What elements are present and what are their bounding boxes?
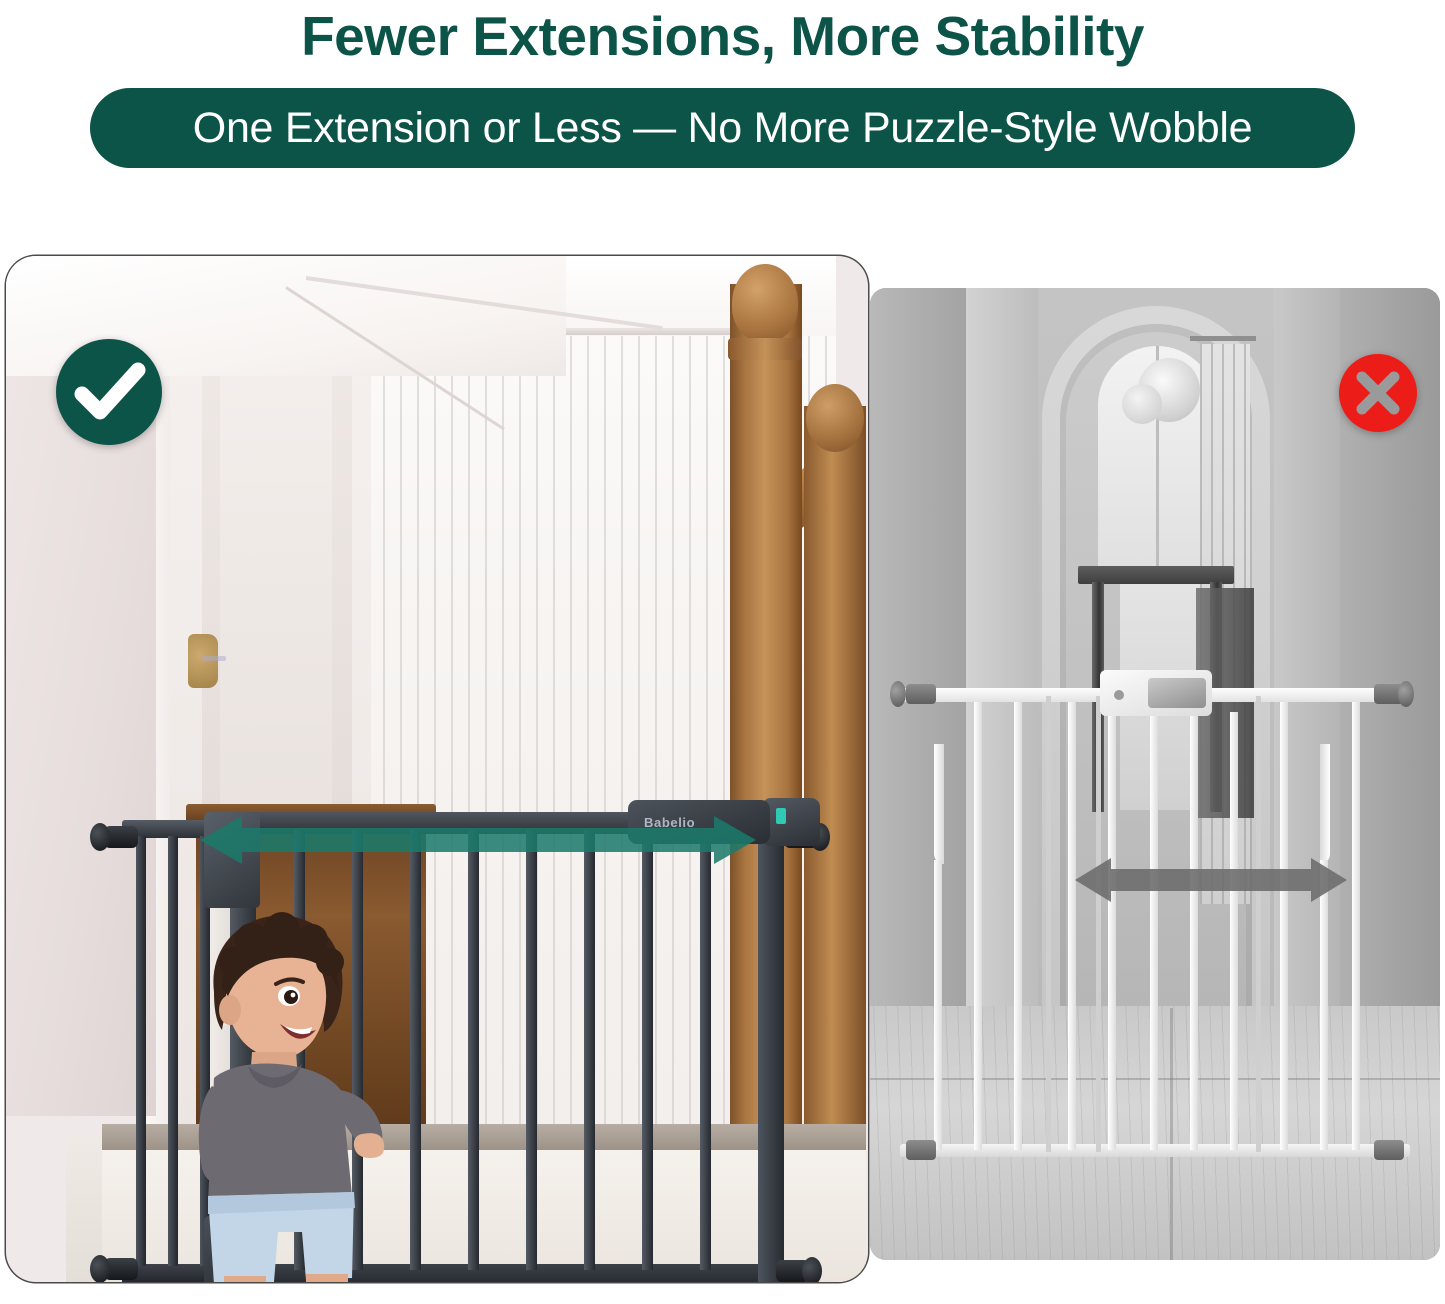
x-circle-icon	[1337, 352, 1419, 434]
gate-bar	[700, 830, 711, 1270]
gate-bar	[974, 702, 982, 1150]
extension-seam	[1256, 696, 1261, 1152]
width-span-arrow-good	[200, 815, 756, 865]
gate-latch-detail	[1148, 678, 1206, 708]
gate-bar	[1230, 712, 1238, 1150]
extension-curve	[1320, 744, 1330, 864]
width-span-arrow-bad	[1075, 857, 1347, 903]
comparison-panels: Babelio	[0, 0, 1445, 1304]
gate-bar	[468, 830, 479, 1270]
gate-bar	[1352, 702, 1360, 1150]
gate-bar	[642, 830, 653, 1270]
gate-bar	[1320, 860, 1328, 1150]
gate-latch-housing	[762, 798, 820, 846]
pressure-mount-cap	[1398, 681, 1414, 707]
doorway-inner	[220, 348, 332, 868]
gate-bar	[934, 860, 942, 1150]
gate-bar	[410, 830, 421, 1270]
extension-curve	[934, 744, 944, 864]
gate-bar	[1190, 712, 1198, 1150]
gate-right-post	[758, 812, 784, 1282]
newel-post-finial	[732, 264, 798, 342]
white-puzzle-gate	[900, 674, 1410, 1174]
newel-post-second-finial	[806, 384, 864, 452]
gate-bar	[526, 830, 537, 1270]
pressure-mount-cap	[802, 1257, 822, 1282]
gate-latch-button	[1114, 690, 1124, 700]
gate-bar	[1280, 702, 1288, 1150]
gate-bar	[584, 830, 595, 1270]
gate-bar	[1068, 702, 1076, 1150]
good-example-panel: Babelio	[6, 256, 868, 1282]
wall-sconce-arm	[202, 656, 226, 661]
latch-indicator-led	[776, 808, 786, 824]
extension-seam	[1046, 696, 1051, 1152]
check-circle-icon	[53, 336, 165, 448]
toddler-figure	[156, 896, 386, 1282]
pressure-mount-cap	[90, 823, 110, 851]
pressure-mount-cap	[90, 1255, 110, 1282]
gate-bar	[1014, 702, 1022, 1150]
newel-post-collar	[728, 338, 802, 360]
pressure-mount-knob	[906, 684, 936, 704]
gate-bar	[1150, 712, 1158, 1150]
wall-sconce	[188, 634, 218, 688]
curtain-rod	[1190, 336, 1256, 341]
extension-seam	[1096, 696, 1101, 1152]
flower-arrangement-2	[1122, 384, 1162, 424]
pressure-mount-knob	[906, 1140, 936, 1160]
pressure-mount-cap	[890, 681, 906, 707]
extension-bar	[136, 836, 146, 1266]
gate-bar	[1108, 702, 1116, 1150]
pressure-mount-knob	[1374, 1140, 1404, 1160]
